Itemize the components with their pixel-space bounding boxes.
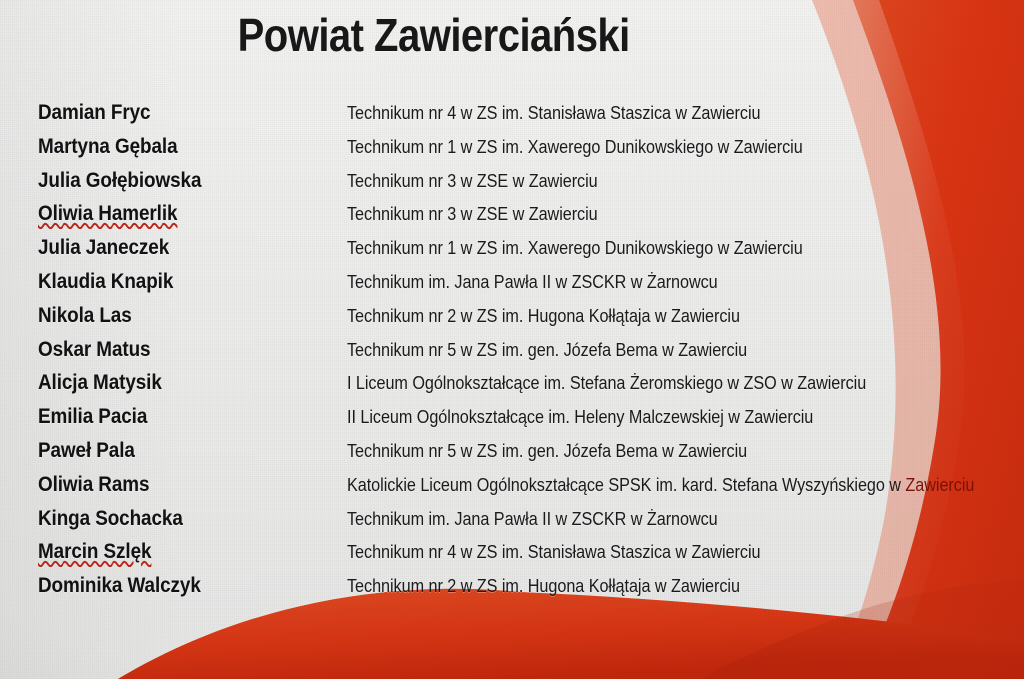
table-row: Emilia PaciaII Liceum Ogólnokształcące i… bbox=[0, 405, 1024, 439]
awardee-name: Kinga Sochacka bbox=[38, 507, 183, 531]
awardee-name: Julia Janeczek bbox=[38, 236, 169, 260]
table-row: Julia GołębiowskaTechnikum nr 3 w ZSE w … bbox=[0, 169, 1024, 203]
awardee-school: Technikum nr 1 w ZS im. Xawerego Dunikow… bbox=[347, 137, 803, 158]
table-row: Julia JaneczekTechnikum nr 1 w ZS im. Xa… bbox=[0, 236, 1024, 270]
awardee-school: Technikum nr 3 w ZSE w Zawierciu bbox=[347, 171, 598, 192]
table-row: Dominika WalczykTechnikum nr 2 w ZS im. … bbox=[0, 574, 1024, 608]
table-row: Martyna GębalaTechnikum nr 1 w ZS im. Xa… bbox=[0, 135, 1024, 169]
awardee-name: Emilia Pacia bbox=[38, 405, 147, 429]
awardee-school: Technikum nr 2 w ZS im. Hugona Kołłątaja… bbox=[347, 306, 740, 327]
school-text-tail-over-red: Zawierciu bbox=[905, 475, 974, 495]
awardee-school: Technikum nr 1 w ZS im. Xawerego Dunikow… bbox=[347, 238, 803, 259]
page-title: Powiat Zawierciański bbox=[67, 8, 958, 62]
awardee-school: Technikum nr 4 w ZS im. Stanisława Stasz… bbox=[347, 542, 760, 563]
table-row: Nikola LasTechnikum nr 2 w ZS im. Hugona… bbox=[0, 304, 1024, 338]
awardee-name: Alicja Matysik bbox=[38, 371, 162, 395]
table-row: Oliwia RamsKatolickie Liceum Ogólnokszta… bbox=[0, 473, 1024, 507]
awardee-name: Dominika Walczyk bbox=[38, 574, 201, 598]
awardee-school: Technikum nr 3 w ZSE w Zawierciu bbox=[347, 204, 598, 225]
table-row: Klaudia KnapikTechnikum im. Jana Pawła I… bbox=[0, 270, 1024, 304]
table-row: Kinga SochackaTechnikum im. Jana Pawła I… bbox=[0, 507, 1024, 541]
awardee-school: Technikum nr 4 w ZS im. Stanisława Stasz… bbox=[347, 103, 760, 124]
awardee-name: Paweł Pala bbox=[38, 439, 135, 463]
awardee-school: II Liceum Ogólnokształcące im. Heleny Ma… bbox=[347, 407, 813, 428]
awardee-name: Oliwia Rams bbox=[38, 473, 149, 497]
school-text-head: Katolickie Liceum Ogólnokształcące SPSK … bbox=[347, 475, 905, 495]
table-row: Damian FrycTechnikum nr 4 w ZS im. Stani… bbox=[0, 101, 1024, 135]
content-layer: Powiat Zawierciański Damian FrycTechniku… bbox=[0, 0, 1024, 679]
awardee-name: Oliwia Hamerlik bbox=[38, 202, 177, 226]
table-row: Paweł PalaTechnikum nr 5 w ZS im. gen. J… bbox=[0, 439, 1024, 473]
awardee-school: Technikum nr 5 w ZS im. gen. Józefa Bema… bbox=[347, 441, 747, 462]
table-row: Oliwia HamerlikTechnikum nr 3 w ZSE w Za… bbox=[0, 202, 1024, 236]
awardee-name: Martyna Gębala bbox=[38, 135, 178, 159]
table-row: Alicja MatysikI Liceum Ogólnokształcące … bbox=[0, 371, 1024, 405]
awardee-name: Damian Fryc bbox=[38, 101, 150, 125]
awardee-name: Oskar Matus bbox=[38, 338, 150, 362]
awardee-school: Technikum im. Jana Pawła II w ZSCKR w Ża… bbox=[347, 509, 718, 530]
table-row: Oskar MatusTechnikum nr 5 w ZS im. gen. … bbox=[0, 338, 1024, 372]
awardee-name: Klaudia Knapik bbox=[38, 270, 173, 294]
awardee-school: Katolickie Liceum Ogólnokształcące SPSK … bbox=[347, 475, 974, 496]
honor-roll-board: Powiat Zawierciański Damian FrycTechniku… bbox=[0, 0, 1024, 679]
awardee-school: Technikum im. Jana Pawła II w ZSCKR w Ża… bbox=[347, 272, 718, 293]
awardee-school: Technikum nr 2 w ZS im. Hugona Kołłątaja… bbox=[347, 576, 740, 597]
awardee-school: Technikum nr 5 w ZS im. gen. Józefa Bema… bbox=[347, 340, 747, 361]
awardee-name: Marcin Szlęk bbox=[38, 540, 151, 564]
awardee-name: Nikola Las bbox=[38, 304, 132, 328]
awardee-name: Julia Gołębiowska bbox=[38, 169, 201, 193]
table-row: Marcin SzlękTechnikum nr 4 w ZS im. Stan… bbox=[0, 540, 1024, 574]
awardee-school: I Liceum Ogólnokształcące im. Stefana Że… bbox=[347, 373, 866, 394]
